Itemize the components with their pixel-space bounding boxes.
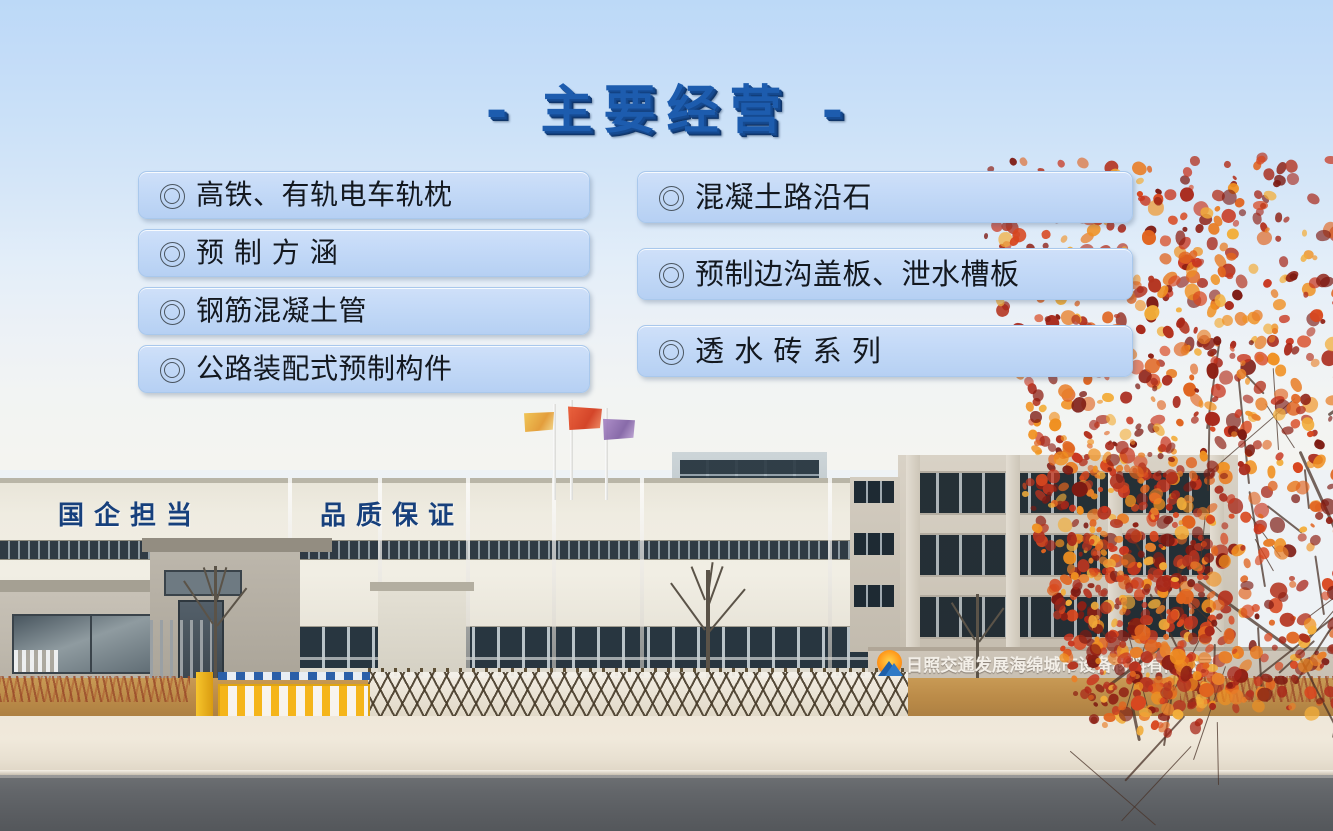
double-circle-icon: [159, 299, 183, 323]
factory-slogan-1: 国企担当: [58, 495, 202, 532]
service-pill-label: 预制边沟盖板、泄水槽板: [695, 260, 1020, 289]
sun-mountain-logo: [876, 650, 903, 676]
title-dash-left: -: [486, 81, 512, 141]
factory-slogan-2: 品质保证: [320, 495, 464, 532]
service-pill[interactable]: 混凝土路沿石: [637, 171, 1133, 223]
service-pill[interactable]: 透 水 砖 系 列: [637, 325, 1133, 377]
barrier-top-rail: [218, 672, 370, 680]
service-pill-label: 混凝土路沿石: [695, 183, 872, 212]
flag-2: [568, 406, 602, 430]
flag-1: [524, 412, 554, 432]
service-pill[interactable]: 预制边沟盖板、泄水槽板: [637, 248, 1133, 300]
service-pill[interactable]: 高铁、有轨电车轨枕: [138, 171, 590, 219]
page-title: - 主要经营 -: [0, 68, 1333, 143]
company-name: 日照交通发展海绵城市设备材料有限公司: [906, 651, 1216, 676]
service-pill-label: 预 制 方 涵: [196, 239, 338, 267]
double-circle-icon: [658, 262, 682, 286]
service-pill[interactable]: 公路装配式预制构件: [138, 345, 590, 393]
service-pill-label: 高铁、有轨电车轨枕: [196, 181, 453, 209]
title-text: 主要经营: [540, 81, 792, 141]
service-pill-label: 公路装配式预制构件: [196, 355, 453, 383]
company-sign: 日照交通发展海绵城市设备材料有限公司: [876, 650, 1216, 676]
bare-tree-left: [172, 556, 262, 686]
services-left-column: 高铁、有轨电车轨枕预 制 方 涵钢筋混凝土管公路装配式预制构件: [138, 171, 590, 393]
promo-banner: 国企担当 品质保证 日照交通发展海绵城市设备材料有限公司: [0, 0, 1333, 831]
double-circle-icon: [658, 185, 682, 209]
title-dash-right: -: [822, 81, 848, 141]
double-circle-icon: [159, 183, 183, 207]
weeds-left: [0, 676, 190, 702]
traffic-barrier: [218, 684, 370, 718]
double-circle-icon: [658, 339, 682, 363]
services-right-column: 混凝土路沿石预制边沟盖板、泄水槽板透 水 砖 系 列: [637, 171, 1133, 377]
double-circle-icon: [159, 241, 183, 265]
road: [0, 775, 1333, 831]
weeds-right: [1180, 676, 1333, 702]
service-pill[interactable]: 钢筋混凝土管: [138, 287, 590, 335]
service-pill[interactable]: 预 制 方 涵: [138, 229, 590, 277]
pavement: [0, 716, 1333, 774]
flag-3: [603, 418, 635, 440]
double-circle-icon: [159, 357, 183, 381]
office-side-wing: [850, 477, 900, 652]
service-pill-label: 钢筋混凝土管: [196, 297, 367, 325]
service-pill-label: 透 水 砖 系 列: [695, 337, 881, 366]
